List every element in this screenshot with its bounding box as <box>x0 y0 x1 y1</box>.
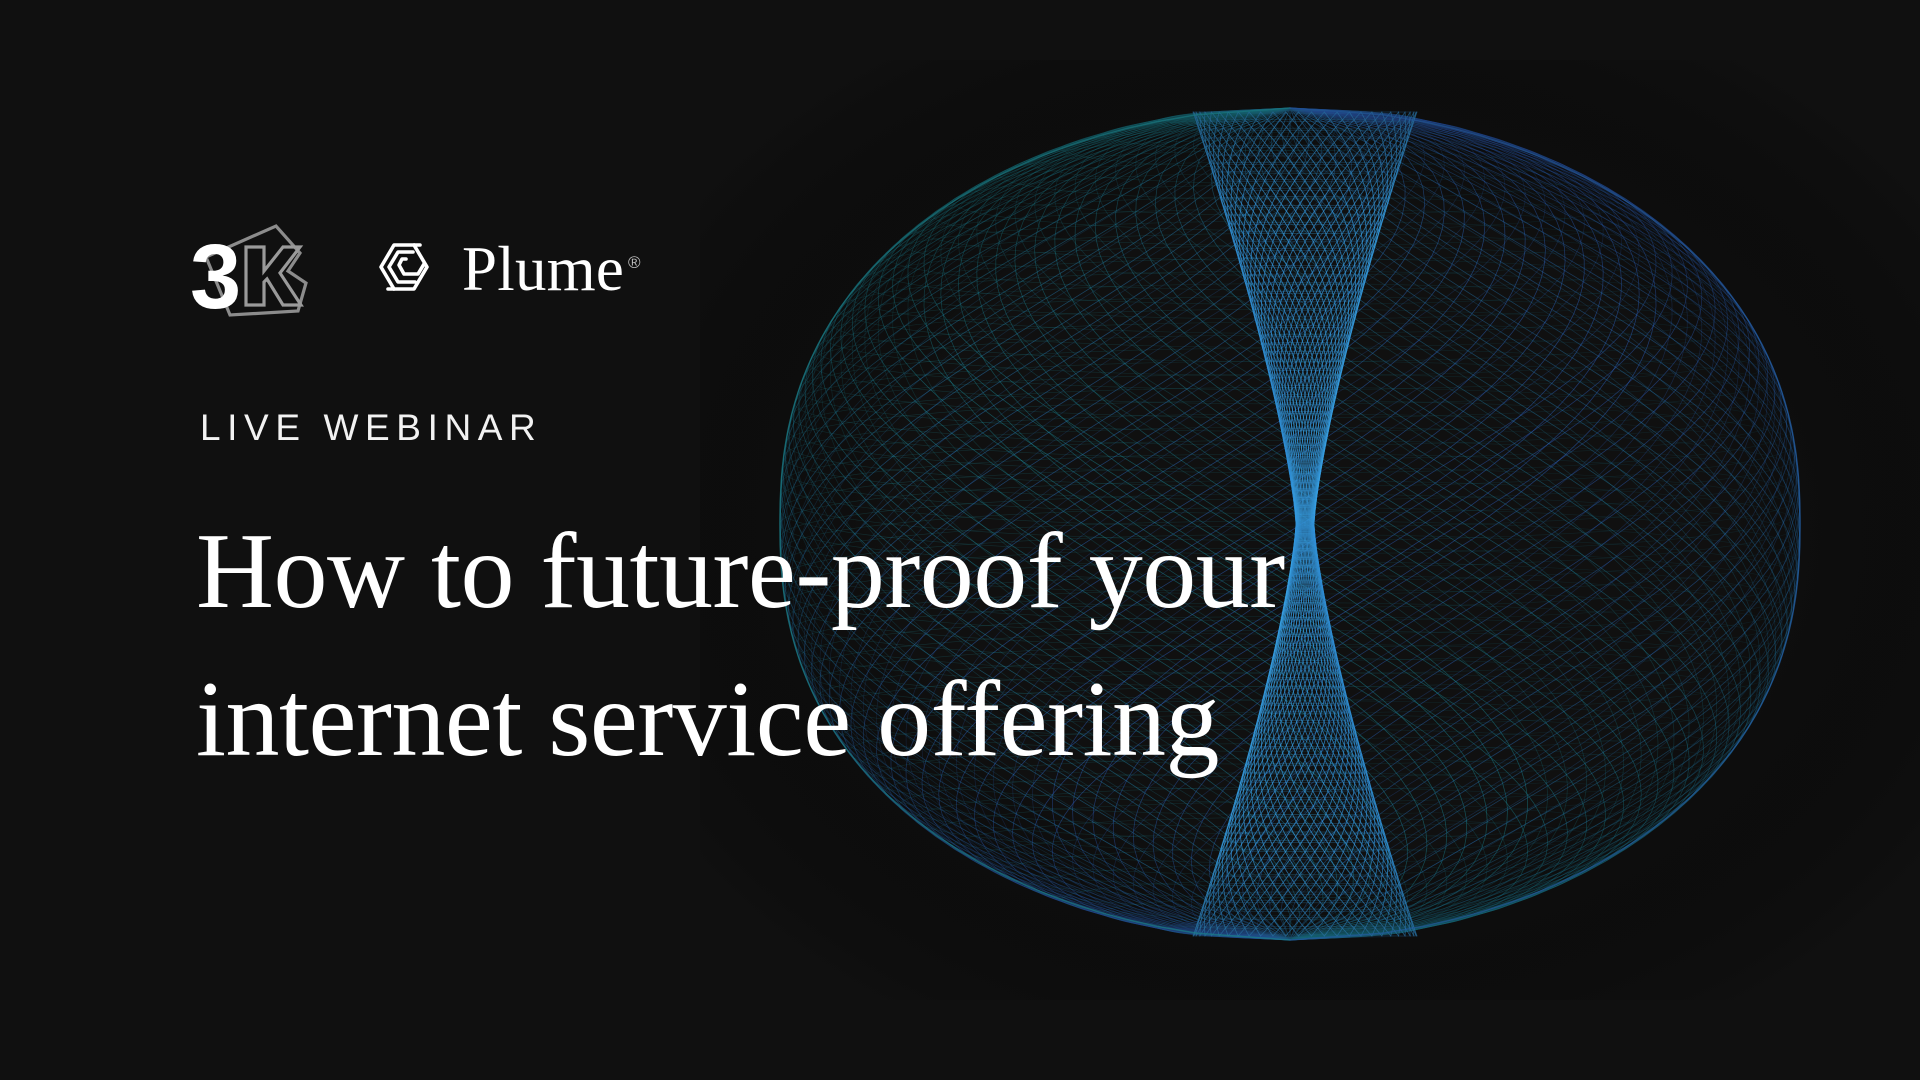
plume-hexagon-spiral-icon <box>368 231 440 303</box>
eyebrow-live-webinar: LIVE WEBINAR <box>200 409 542 446</box>
svg-text:3: 3 <box>190 226 241 321</box>
logo-spacer <box>328 267 368 268</box>
registered-trademark-icon: ® <box>628 253 641 272</box>
headline-line-1: How to future-proof your <box>196 498 1616 646</box>
page-title: How to future-proof your internet servic… <box>196 498 1616 794</box>
headline-line-2: internet service offering <box>196 646 1616 794</box>
plume-wordmark: Plume® <box>462 238 637 301</box>
plume-wordmark-text: Plume <box>462 234 624 304</box>
partner-logo-3k: 3 <box>188 213 328 321</box>
plume-lockup: Plume® <box>368 224 637 310</box>
promo-canvas: 3 Plume® LIVE WEBINAR How to future-proo… <box>0 0 1920 1080</box>
logo-row: 3 Plume® <box>188 213 637 321</box>
